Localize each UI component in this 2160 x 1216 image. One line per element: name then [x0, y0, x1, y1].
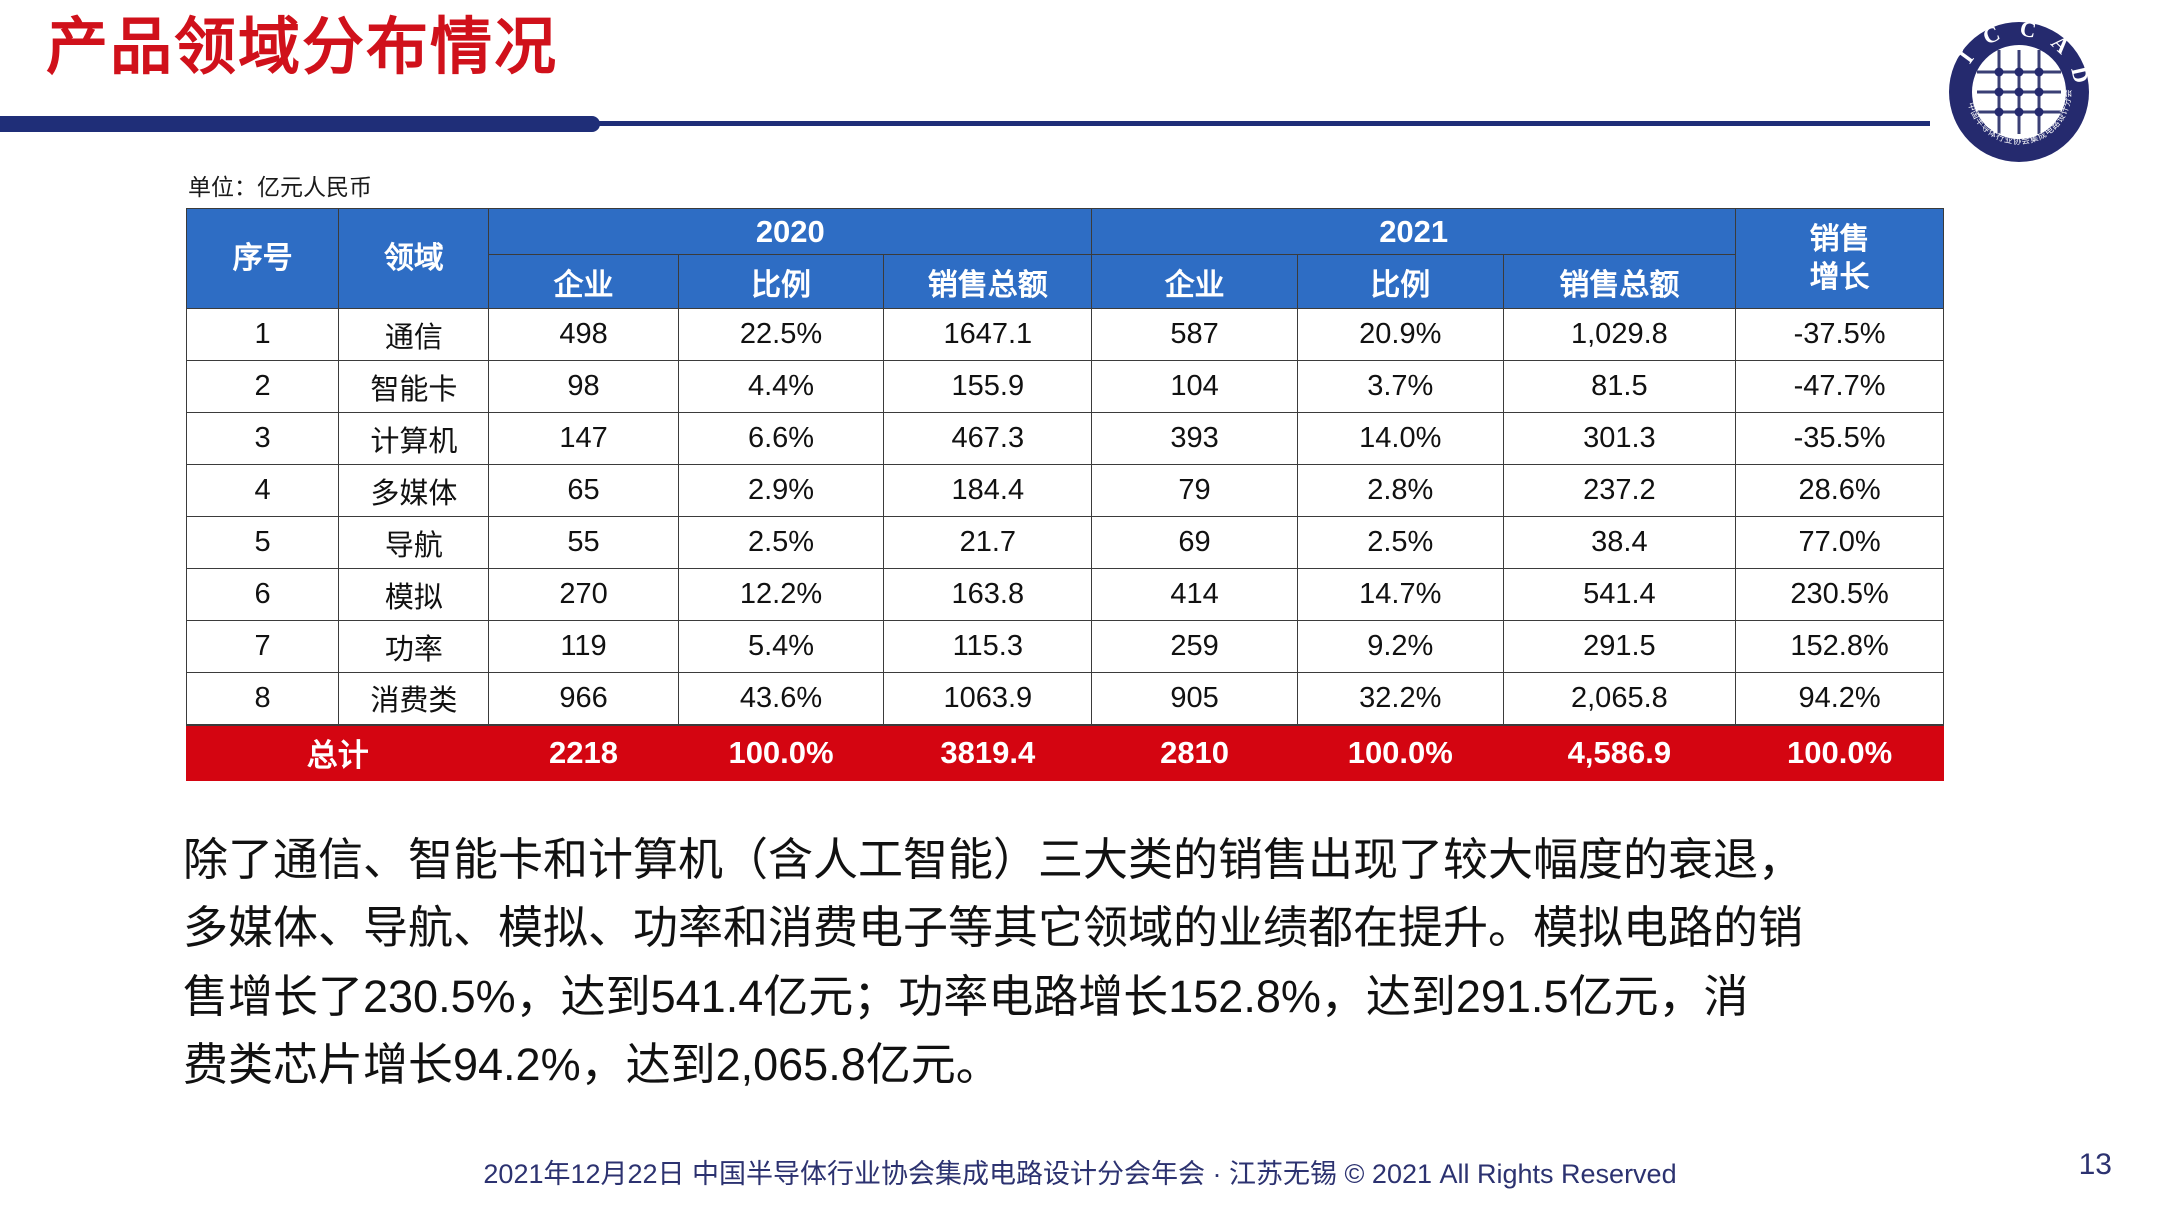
cell-sales-2020: 155.9	[884, 361, 1092, 413]
page-number: 13	[2079, 1148, 2112, 1182]
col-header-sales-2020: 销售总额	[884, 255, 1092, 309]
cell-sales-2021: 2,065.8	[1503, 673, 1736, 725]
col-header-enterprises-2021: 企业	[1092, 255, 1298, 309]
col-header-enterprises-2020: 企业	[489, 255, 678, 309]
cell-pct-2020: 5.4%	[678, 621, 884, 673]
cell-sales-2021: 237.2	[1503, 465, 1736, 517]
col-header-sales-growth: 销售 增长	[1736, 209, 1944, 309]
table-row: 1 通信 498 22.5% 1647.1 587 20.9% 1,029.8 …	[187, 309, 1944, 361]
cell-ent-2020: 498	[489, 309, 678, 361]
cell-ent-2021: 259	[1092, 621, 1298, 673]
cell-sales-2021: 301.3	[1503, 413, 1736, 465]
cell-total-ent-2020: 2218	[489, 725, 678, 781]
cell-pct-2020: 2.5%	[678, 517, 884, 569]
cell-ent-2020: 966	[489, 673, 678, 725]
cell-index: 2	[187, 361, 339, 413]
cell-field: 模拟	[339, 569, 489, 621]
table-row: 6 模拟 270 12.2% 163.8 414 14.7% 541.4 230…	[187, 569, 1944, 621]
cell-growth: 152.8%	[1736, 621, 1944, 673]
cell-ent-2020: 55	[489, 517, 678, 569]
cell-field: 多媒体	[339, 465, 489, 517]
cell-pct-2020: 43.6%	[678, 673, 884, 725]
cell-total-growth: 100.0%	[1736, 725, 1944, 781]
cell-total-pct-2020: 100.0%	[678, 725, 884, 781]
cell-ent-2021: 393	[1092, 413, 1298, 465]
cell-ent-2021: 79	[1092, 465, 1298, 517]
cell-growth: -35.5%	[1736, 413, 1944, 465]
cell-field: 通信	[339, 309, 489, 361]
cell-pct-2020: 22.5%	[678, 309, 884, 361]
cell-ent-2020: 65	[489, 465, 678, 517]
cell-growth: -47.7%	[1736, 361, 1944, 413]
cell-sales-2020: 21.7	[884, 517, 1092, 569]
unit-note: 单位：亿元人民币	[188, 168, 372, 202]
title-underline-thick	[0, 116, 600, 132]
cell-pct-2021: 32.2%	[1297, 673, 1503, 725]
table-row: 8 消费类 966 43.6% 1063.9 905 32.2% 2,065.8…	[187, 673, 1944, 725]
cell-total-ent-2021: 2810	[1092, 725, 1298, 781]
col-header-sales-growth-line1: 销售	[1736, 221, 1943, 259]
cell-pct-2020: 2.9%	[678, 465, 884, 517]
slide-header: 产品领域分布情况	[0, 0, 2160, 150]
col-header-field: 领域	[339, 209, 489, 309]
table-total-row: 总计 2218 100.0% 3819.4 2810 100.0% 4,586.…	[187, 725, 1944, 781]
cell-sales-2021: 38.4	[1503, 517, 1736, 569]
cell-ent-2020: 270	[489, 569, 678, 621]
cell-field: 功率	[339, 621, 489, 673]
cell-ent-2021: 414	[1092, 569, 1298, 621]
title-underline-thin	[596, 121, 1930, 126]
cell-growth: 77.0%	[1736, 517, 1944, 569]
col-header-sales-2021: 销售总额	[1503, 255, 1736, 309]
cell-sales-2021: 81.5	[1503, 361, 1736, 413]
cell-growth: 28.6%	[1736, 465, 1944, 517]
cell-sales-2020: 467.3	[884, 413, 1092, 465]
cell-sales-2021: 291.5	[1503, 621, 1736, 673]
cell-field: 计算机	[339, 413, 489, 465]
table-row: 3 计算机 147 6.6% 467.3 393 14.0% 301.3 -35…	[187, 413, 1944, 465]
cell-index: 5	[187, 517, 339, 569]
body-line-2: 多媒体、导航、模拟、功率和消费电子等其它领域的业绩都在提升。模拟电路的销	[183, 894, 1983, 962]
cell-field: 消费类	[339, 673, 489, 725]
cell-ent-2020: 98	[489, 361, 678, 413]
cell-pct-2021: 2.8%	[1297, 465, 1503, 517]
cell-ent-2021: 104	[1092, 361, 1298, 413]
cell-ent-2020: 119	[489, 621, 678, 673]
table-row: 2 智能卡 98 4.4% 155.9 104 3.7% 81.5 -47.7%	[187, 361, 1944, 413]
cell-growth: -37.5%	[1736, 309, 1944, 361]
cell-ent-2021: 587	[1092, 309, 1298, 361]
footer-text: 2021年12月22日 中国半导体行业协会集成电路设计分会年会 · 江苏无锡 ©…	[0, 1152, 2160, 1191]
cell-sales-2020: 115.3	[884, 621, 1092, 673]
table-header-row-1: 序号 领域 2020 2021 销售 增长	[187, 209, 1944, 255]
body-line-4: 费类芯片增长94.2%，达到2,065.8亿元。	[183, 1031, 1983, 1099]
cell-ent-2021: 905	[1092, 673, 1298, 725]
cell-growth: 94.2%	[1736, 673, 1944, 725]
cell-growth: 230.5%	[1736, 569, 1944, 621]
cell-ent-2021: 69	[1092, 517, 1298, 569]
cell-pct-2020: 6.6%	[678, 413, 884, 465]
cell-index: 7	[187, 621, 339, 673]
cell-total-sales-2021: 4,586.9	[1503, 725, 1736, 781]
body-line-1: 除了通信、智能卡和计算机（含人工智能）三大类的销售出现了较大幅度的衰退，	[183, 826, 1983, 894]
product-field-table: 序号 领域 2020 2021 销售 增长 企业 比例 销售总额 企业 比例 销…	[186, 208, 1944, 781]
page-title: 产品领域分布情况	[46, 12, 558, 83]
cell-field: 智能卡	[339, 361, 489, 413]
cell-pct-2020: 4.4%	[678, 361, 884, 413]
col-header-ratio-2021: 比例	[1297, 255, 1503, 309]
cell-sales-2020: 1647.1	[884, 309, 1092, 361]
cell-index: 4	[187, 465, 339, 517]
body-paragraph: 除了通信、智能卡和计算机（含人工智能）三大类的销售出现了较大幅度的衰退， 多媒体…	[183, 826, 1983, 1100]
cell-sales-2020: 163.8	[884, 569, 1092, 621]
cell-pct-2021: 14.0%	[1297, 413, 1503, 465]
cell-sales-2020: 1063.9	[884, 673, 1092, 725]
col-header-year-2021: 2021	[1092, 209, 1736, 255]
cell-index: 1	[187, 309, 339, 361]
cell-index: 8	[187, 673, 339, 725]
table-row: 7 功率 119 5.4% 115.3 259 9.2% 291.5 152.8…	[187, 621, 1944, 673]
iccad-logo: I C C A D 中国半导体行业协会集成电路设计分会	[1945, 18, 2093, 166]
cell-pct-2021: 3.7%	[1297, 361, 1503, 413]
col-header-ratio-2020: 比例	[678, 255, 884, 309]
col-header-index: 序号	[187, 209, 339, 309]
col-header-sales-growth-line2: 增长	[1736, 259, 1943, 297]
cell-sales-2021: 541.4	[1503, 569, 1736, 621]
cell-sales-2021: 1,029.8	[1503, 309, 1736, 361]
table-row: 4 多媒体 65 2.9% 184.4 79 2.8% 237.2 28.6%	[187, 465, 1944, 517]
cell-pct-2021: 20.9%	[1297, 309, 1503, 361]
cell-total-pct-2021: 100.0%	[1297, 725, 1503, 781]
cell-pct-2021: 9.2%	[1297, 621, 1503, 673]
body-line-3: 售增长了230.5%，达到541.4亿元；功率电路增长152.8%，达到291.…	[183, 963, 1983, 1031]
cell-total-label: 总计	[187, 725, 489, 781]
col-header-year-2020: 2020	[489, 209, 1092, 255]
cell-sales-2020: 184.4	[884, 465, 1092, 517]
cell-pct-2020: 12.2%	[678, 569, 884, 621]
cell-ent-2020: 147	[489, 413, 678, 465]
cell-total-sales-2020: 3819.4	[884, 725, 1092, 781]
cell-pct-2021: 14.7%	[1297, 569, 1503, 621]
cell-index: 6	[187, 569, 339, 621]
cell-pct-2021: 2.5%	[1297, 517, 1503, 569]
cell-field: 导航	[339, 517, 489, 569]
cell-index: 3	[187, 413, 339, 465]
table-row: 5 导航 55 2.5% 21.7 69 2.5% 38.4 77.0%	[187, 517, 1944, 569]
